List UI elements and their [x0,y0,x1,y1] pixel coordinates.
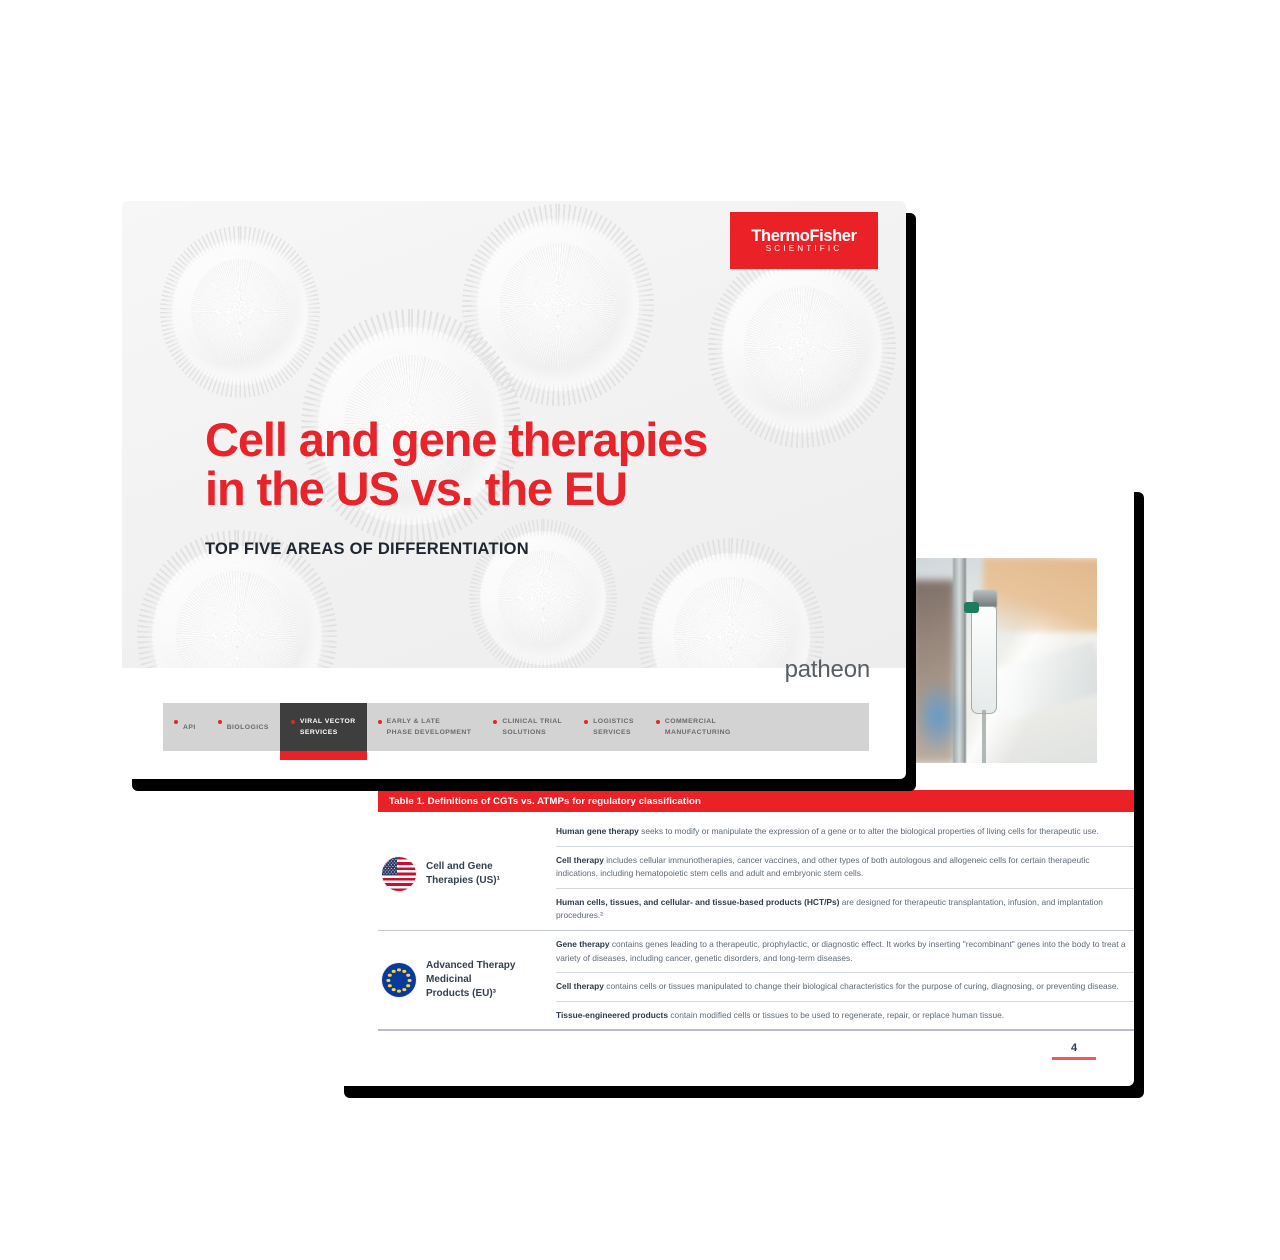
bullet-dot-icon [218,720,222,724]
service-item-label: CLINICAL TRIAL SOLUTIONS [502,716,562,738]
row-label-eu: Advanced Therapy Medicinal Products (EU)… [378,931,556,1029]
thermofisher-logo: ThermoFisher SCIENTIFIC [730,212,878,269]
service-nav-bar: API BIOLOGICS VIRAL VECTOR SERVICES EARL… [163,703,869,751]
eu-star-icon [392,970,395,973]
row-label-text: Cell and Gene Therapies (US)¹ [426,860,500,888]
page-number-rule [1052,1057,1096,1060]
service-item-label: EARLY & LATE PHASE DEVELOPMENT [387,716,472,738]
definition-line: Cell therapy includes cellular immunothe… [556,847,1134,889]
page-title: Cell and gene therapiesin the US vs. the… [205,415,845,514]
service-item-label: VIRAL VECTOR SERVICES [300,716,356,738]
definition-term: Human cells, tissues, and cellular- and … [556,897,839,907]
service-item-label: COMMERCIAL MANUFACTURING [665,716,731,738]
row-label-text: Advanced Therapy Medicinal Products (EU)… [426,959,515,1002]
us-flag-icon [382,857,416,891]
service-item-viral-vector-services[interactable]: VIRAL VECTOR SERVICES [280,703,367,751]
bullet-dot-icon [493,720,497,724]
table-title-bar: Table 1. Definitions of CGTs vs. ATMPs f… [378,790,1134,812]
cover-page-preview[interactable]: ThermoFisher SCIENTIFIC Cell and gene th… [122,201,906,779]
logo-tagline-text: SCIENTIFIC [766,245,843,253]
bullet-dot-icon [584,720,588,724]
definition-text: contains genes leading to a therapeutic,… [556,939,1126,963]
screenshot-canvas: Table 1. Definitions of CGTs vs. ATMPs f… [0,0,1280,1260]
definition-line: Gene therapy contains genes leading to a… [556,931,1134,973]
eu-star-icon [397,989,400,992]
logo-brand-text: ThermoFisher [751,228,856,245]
eu-star-icon [407,984,410,987]
eu-star-icon [392,988,395,991]
service-item-logistics-services[interactable]: LOGISTICS SERVICES [573,703,645,751]
cover-title-block: Cell and gene therapiesin the US vs. the… [205,415,845,559]
eu-star-icon [408,979,411,982]
definition-term: Human gene therapy [556,826,639,836]
eu-star-icon [403,988,406,991]
bullet-dot-icon [378,720,382,724]
eu-star-icon [388,973,391,976]
definition-term: Cell therapy [556,855,604,865]
title-line-2: in the US vs. the EU [205,462,627,515]
table-row: Cell and Gene Therapies (US)¹ Human gene… [378,818,1134,931]
definition-term: Cell therapy [556,981,604,991]
service-item-commercial-manufacturing[interactable]: COMMERCIAL MANUFACTURING [645,703,742,751]
definition-line: Human cells, tissues, and cellular- and … [556,889,1134,930]
page-subtitle: TOP FIVE AREAS OF DIFFERENTIATION [205,540,845,559]
definition-line: Tissue-engineered products contain modif… [556,1002,1134,1030]
table-row: Advanced Therapy Medicinal Products (EU)… [378,931,1134,1031]
definition-text: seeks to modify or manipulate the expres… [639,826,1099,836]
service-item-biologics[interactable]: BIOLOGICS [207,703,280,751]
bullet-dot-icon [656,720,660,724]
service-item-clinical-trial-solutions[interactable]: CLINICAL TRIAL SOLUTIONS [482,703,573,751]
service-item-label: LOGISTICS SERVICES [593,716,634,738]
definition-text: includes cellular immunotherapies, cance… [556,855,1090,879]
service-item-label: API [183,722,196,733]
definition-line: Human gene therapy seeks to modify or ma… [556,818,1134,847]
eu-star-icon [387,979,390,982]
service-item-api[interactable]: API [163,703,207,751]
patheon-logo: patheon [785,656,870,684]
eu-star-icon [407,973,410,976]
eu-star-icon [397,968,400,971]
row-definitions: Human gene therapy seeks to modify or ma… [556,818,1134,930]
cgt-atmp-table: Cell and Gene Therapies (US)¹ Human gene… [378,818,1134,1031]
eu-star-icon [388,984,391,987]
page-number: 4 [1052,1042,1096,1060]
service-item-early-late-phase-development[interactable]: EARLY & LATE PHASE DEVELOPMENT [367,703,483,751]
eu-star-icon [403,970,406,973]
service-item-label: BIOLOGICS [227,722,269,733]
iv-drip-photo [911,558,1097,763]
definition-text: contains cells or tissues manipulated to… [604,981,1119,991]
title-line-1: Cell and gene therapies [205,413,707,466]
definition-text: contain modified cells or tissues to be … [668,1010,1004,1020]
bullet-dot-icon [174,720,178,724]
eu-flag-icon [382,963,416,997]
table-title: Table 1. Definitions of CGTs vs. ATMPs f… [389,796,701,807]
row-label-us: Cell and Gene Therapies (US)¹ [378,818,556,930]
definition-term: Gene therapy [556,939,610,949]
row-definitions: Gene therapy contains genes leading to a… [556,931,1134,1029]
definition-term: Tissue-engineered products [556,1010,668,1020]
page-number-value: 4 [1052,1042,1096,1054]
definition-line: Cell therapy contains cells or tissues m… [556,973,1134,1002]
bullet-dot-icon [291,720,295,724]
